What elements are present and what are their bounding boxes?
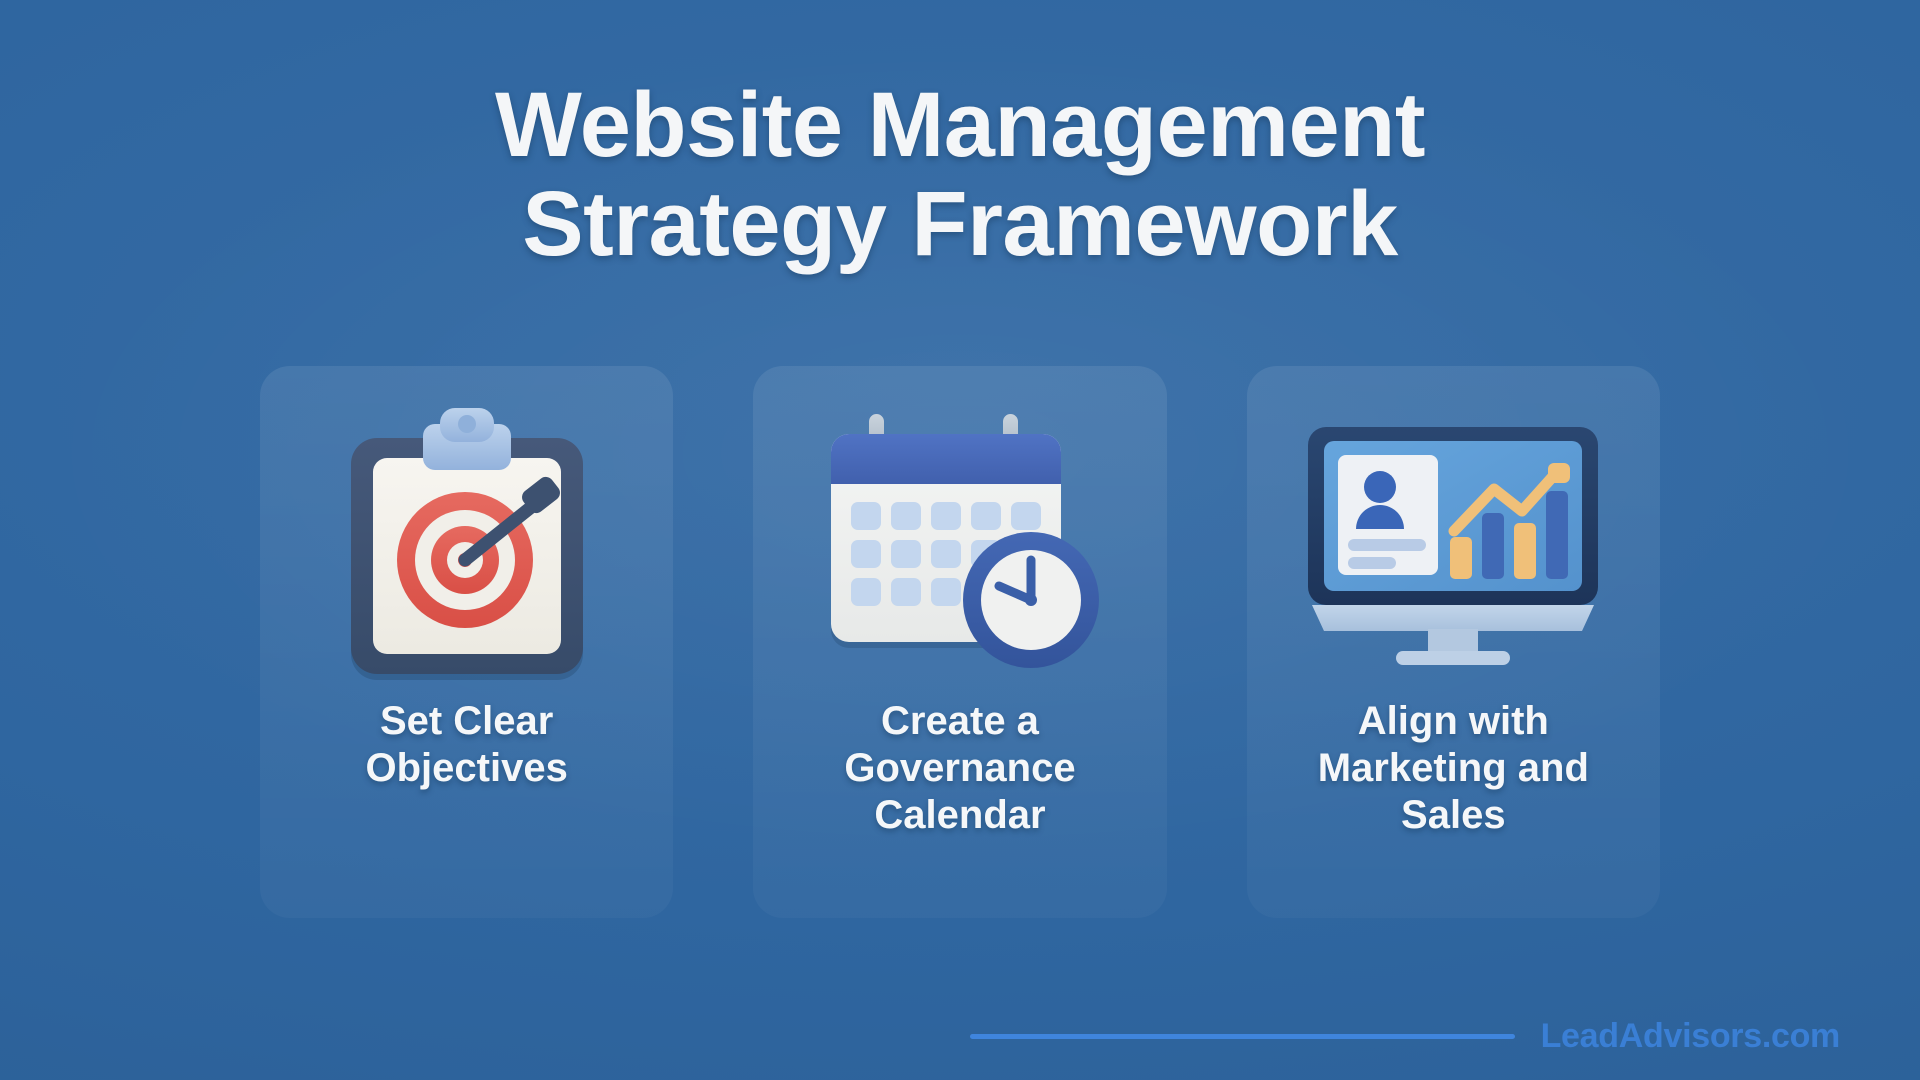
trend-endpoint bbox=[1548, 463, 1570, 483]
clock-face bbox=[963, 532, 1099, 668]
clipboard-target-icon-slot bbox=[260, 394, 673, 694]
calendar-clock-icon bbox=[815, 404, 1105, 684]
page-title-line-2: Strategy Framework bbox=[0, 175, 1920, 274]
bar-3 bbox=[1514, 523, 1536, 579]
card-create-a-governance-calendar[interactable]: Create a Governance Calendar bbox=[753, 366, 1166, 918]
bar-1 bbox=[1450, 537, 1472, 579]
card-set-clear-objectives[interactable]: Set Clear Objectives bbox=[260, 366, 673, 918]
footer-watermark-bar: LeadAdvisors.com bbox=[970, 1017, 1840, 1056]
footer-divider-rule bbox=[970, 1034, 1515, 1039]
poster-canvas: Website Management Strategy Framework bbox=[0, 0, 1920, 1080]
calendar-header-band bbox=[831, 434, 1061, 484]
clipboard-target-icon bbox=[337, 404, 597, 684]
bar-2 bbox=[1482, 513, 1504, 579]
clipboard-clip-hole bbox=[458, 415, 476, 433]
card-align-with-marketing-and-sales[interactable]: Align with Marketing and Sales bbox=[1247, 366, 1660, 918]
card-label-align-with-marketing-and-sales: Align with Marketing and Sales bbox=[1262, 698, 1644, 838]
monitor-dashboard-icon bbox=[1298, 419, 1608, 669]
framework-card-row: Set Clear Objectives bbox=[260, 366, 1660, 918]
page-title-line-1: Website Management bbox=[0, 76, 1920, 175]
card-label-create-a-governance-calendar: Create a Governance Calendar bbox=[769, 698, 1151, 838]
monitor-base bbox=[1312, 605, 1594, 631]
monitor-foot bbox=[1396, 651, 1510, 665]
card-label-set-clear-objectives: Set Clear Objectives bbox=[276, 698, 658, 792]
brand-watermark: LeadAdvisors.com bbox=[1541, 1017, 1840, 1056]
calendar-clock-icon-slot bbox=[753, 394, 1166, 694]
bar-4 bbox=[1546, 491, 1568, 579]
page-title: Website Management Strategy Framework bbox=[0, 76, 1920, 275]
monitor-dashboard-icon-slot bbox=[1247, 394, 1660, 694]
